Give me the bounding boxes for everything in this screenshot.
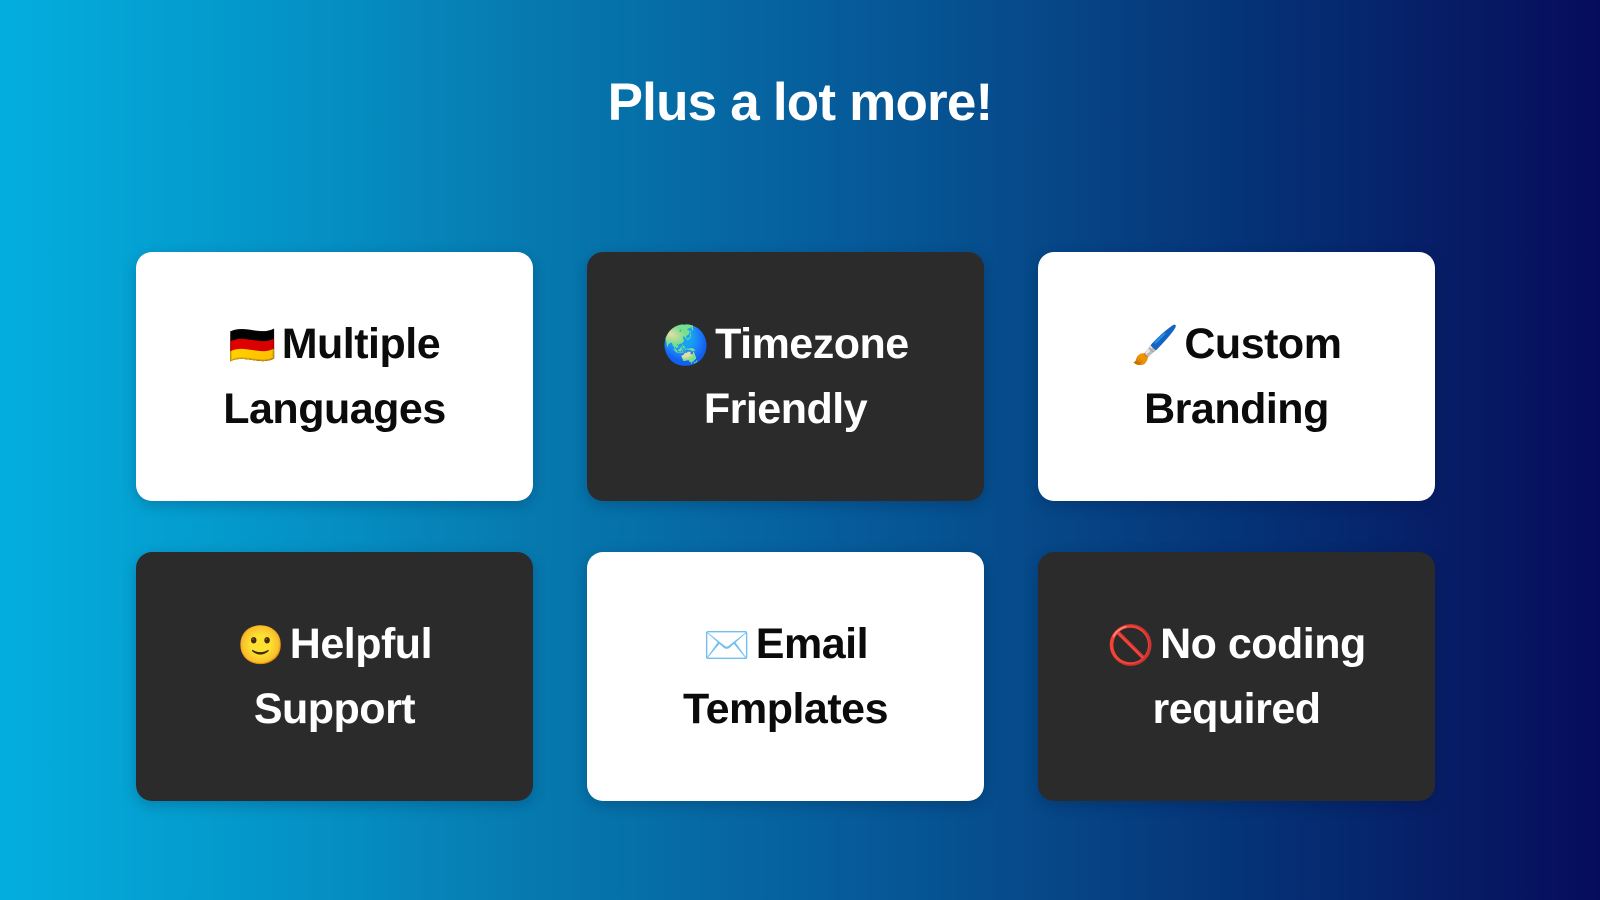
- feature-card-text: 🖌️Custom Branding: [1132, 312, 1342, 441]
- slightly-smiling-face-icon: 🙂: [237, 623, 284, 667]
- feature-card-line-2: Templates: [683, 677, 888, 741]
- feature-card-email-templates[interactable]: ✉️Email Templates: [587, 552, 984, 801]
- feature-card-line-2: Support: [237, 677, 432, 741]
- slide-canvas: Plus a lot more! 🇩🇪Multiple Languages 🌏T…: [0, 0, 1600, 900]
- feature-card-text: 🇩🇪Multiple Languages: [223, 312, 446, 441]
- feature-card-line-1: 🙂Helpful: [237, 612, 432, 677]
- feature-card-line-1: 🌏Timezone: [662, 312, 908, 377]
- prohibited-icon: 🚫: [1107, 623, 1154, 667]
- feature-card-line-2: required: [1107, 677, 1366, 741]
- page-title: Plus a lot more!: [608, 74, 993, 132]
- feature-card-text: 🚫No coding required: [1107, 612, 1366, 741]
- feature-card-text: ✉️Email Templates: [683, 612, 888, 741]
- flag-germany-icon: 🇩🇪: [229, 323, 276, 367]
- feature-card-line-2: Friendly: [662, 377, 908, 441]
- feature-card-line-1: 🇩🇪Multiple: [223, 312, 446, 377]
- feature-card-line-1: 🚫No coding: [1107, 612, 1366, 677]
- feature-card-line-1-text: Email: [756, 620, 868, 668]
- envelope-icon: ✉️: [703, 623, 750, 667]
- feature-card-line-1-text: Multiple: [282, 320, 440, 368]
- feature-card-text: 🙂Helpful Support: [237, 612, 432, 741]
- feature-card-line-1: 🖌️Custom: [1132, 312, 1342, 377]
- feature-card-line-1: ✉️Email: [683, 612, 888, 677]
- paintbrush-icon: 🖌️: [1132, 323, 1179, 367]
- feature-card-line-1-text: Helpful: [290, 620, 432, 668]
- feature-card-text: 🌏Timezone Friendly: [662, 312, 908, 441]
- feature-card-timezone-friendly[interactable]: 🌏Timezone Friendly: [587, 252, 984, 501]
- page-title-container: Plus a lot more!: [0, 74, 1600, 132]
- globe-asia-australia-icon: 🌏: [662, 323, 709, 367]
- feature-card-helpful-support[interactable]: 🙂Helpful Support: [136, 552, 533, 801]
- feature-card-line-1-text: Custom: [1184, 320, 1341, 368]
- feature-card-line-2: Languages: [223, 377, 446, 441]
- feature-card-no-coding-required[interactable]: 🚫No coding required: [1038, 552, 1435, 801]
- feature-card-line-1-text: No coding: [1160, 620, 1366, 668]
- feature-card-line-2: Branding: [1132, 377, 1342, 441]
- feature-card-custom-branding[interactable]: 🖌️Custom Branding: [1038, 252, 1435, 501]
- feature-card-line-1-text: Timezone: [715, 320, 909, 368]
- feature-card-multiple-languages[interactable]: 🇩🇪Multiple Languages: [136, 252, 533, 501]
- feature-card-grid: 🇩🇪Multiple Languages 🌏Timezone Friendly …: [136, 252, 1435, 801]
